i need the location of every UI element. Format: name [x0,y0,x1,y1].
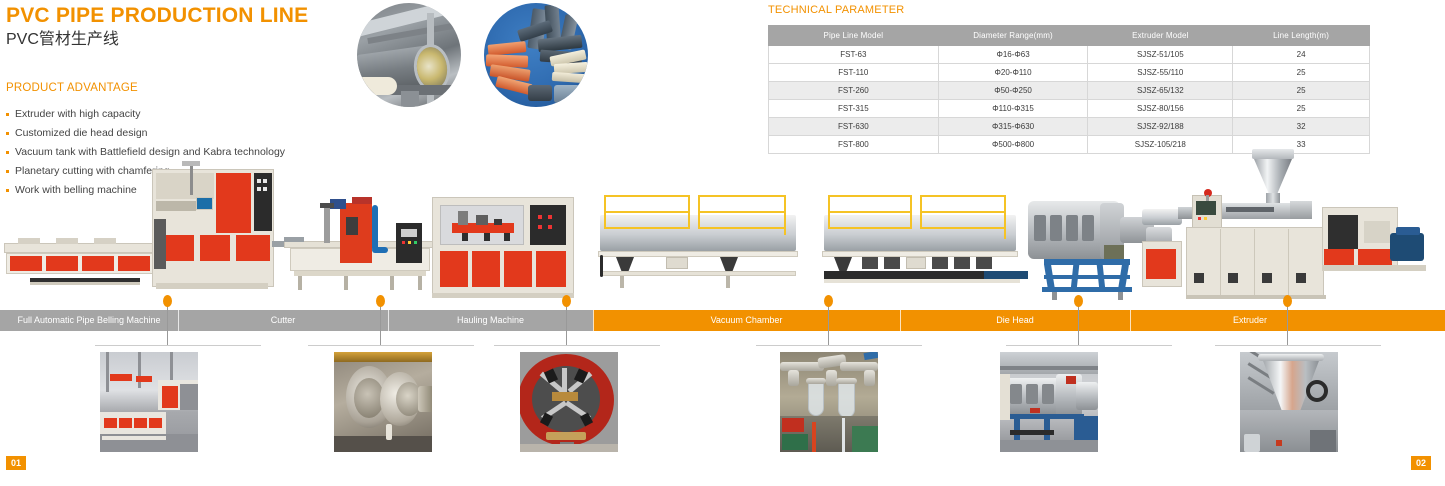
machine-vacuum-tank-a [594,193,802,298]
machine-extruder [1142,145,1442,303]
cell-diameter-range: Φ315-Φ630 [938,118,1088,136]
production-line-illustration [0,145,1445,307]
cell-diameter-range: Φ16-Φ63 [938,46,1088,64]
cell-line-length: 32 [1233,118,1370,136]
technical-parameter-table: Pipe Line Model Diameter Range(mm) Extru… [768,25,1370,154]
page-number-left: 01 [6,456,26,470]
cell-line-length: 25 [1233,64,1370,82]
machine-belling [4,145,274,300]
table-row: FST-63 Φ16-Φ63 SJSZ-51/105 24 [769,46,1370,64]
cell-extruder-model: SJSZ-80/156 [1088,100,1233,118]
thumb-belling-machine[interactable] [100,352,198,452]
stage-label-extruder[interactable]: Extruder [1130,310,1370,331]
cell-line-length: 24 [1233,46,1370,64]
machine-hauling [432,197,574,302]
technical-parameter-section: TECHNICAL PARAMETER Pipe Line Model Diam… [768,4,1370,154]
technical-parameter-heading: TECHNICAL PARAMETER [768,4,1370,16]
table-row: FST-110 Φ20-Φ110 SJSZ-55/110 25 [769,64,1370,82]
thumb-cutter-gear[interactable] [334,352,432,452]
table-row: FST-260 Φ50-Φ250 SJSZ-65/132 25 [769,82,1370,100]
process-stage-bar: Full Automatic Pipe Belling Machine Cutt… [0,310,1445,331]
stage-marker-dot[interactable] [1283,295,1292,307]
pvc-pipes-assortment-photo [484,3,588,107]
cell-pipe-line-model: FST-260 [769,82,939,100]
stage-marker-dot[interactable] [1074,295,1083,307]
bullet-square-icon [6,113,9,116]
stage-marker-dot[interactable] [562,295,571,307]
page-subtitle: PVC管材生产线 [6,29,308,51]
stage-label-die-head[interactable]: Die Head [900,310,1130,331]
stage-marker-dot[interactable] [824,295,833,307]
cell-diameter-range: Φ110-Φ315 [938,100,1088,118]
cell-pipe-line-model: FST-315 [769,100,939,118]
list-item: Extruder with high capacity [6,105,336,124]
title-block: PVC PIPE PRODUCTION LINE PVC管材生产线 [6,4,308,51]
pipe-belling-closeup-photo [357,3,461,107]
cell-diameter-range: Φ50-Φ250 [938,82,1088,100]
cell-line-length: 25 [1233,100,1370,118]
cell-diameter-range: Φ20-Φ110 [938,64,1088,82]
column-header: Extruder Model [1088,26,1233,46]
page-number-right: 02 [1411,456,1431,470]
page-title: PVC PIPE PRODUCTION LINE [6,4,308,28]
machine-cutter [284,197,434,302]
product-advantage-heading: PRODUCT ADVANTAGE [6,82,336,94]
stage-label-cutter[interactable]: Cutter [178,310,388,331]
advantage-label: Extruder with high capacity [15,105,140,124]
table-row: FST-315 Φ110-Φ315 SJSZ-80/156 25 [769,100,1370,118]
cell-pipe-line-model: FST-63 [769,46,939,64]
cell-extruder-model: SJSZ-55/110 [1088,64,1233,82]
thumb-die-head[interactable] [1000,352,1098,452]
table-row: FST-630 Φ315-Φ630 SJSZ-92/188 32 [769,118,1370,136]
cell-extruder-model: SJSZ-92/188 [1088,118,1233,136]
bullet-square-icon [6,132,9,135]
column-header: Diameter Range(mm) [938,26,1088,46]
stage-label-hauling[interactable]: Hauling Machine [388,310,593,331]
machine-vacuum-tank-b [818,193,1022,298]
column-header: Line Length(m) [1233,26,1370,46]
list-item: Customized die head design [6,124,336,143]
table-header-row: Pipe Line Model Diameter Range(mm) Extru… [769,26,1370,46]
cell-pipe-line-model: FST-630 [769,118,939,136]
column-header: Pipe Line Model [769,26,939,46]
cell-pipe-line-model: FST-110 [769,64,939,82]
stage-label-vacuum-chamber[interactable]: Vacuum Chamber [593,310,900,331]
thumb-hauling-head[interactable] [520,352,618,452]
cell-line-length: 25 [1233,82,1370,100]
cell-extruder-model: SJSZ-65/132 [1088,82,1233,100]
stage-marker-dot[interactable] [163,295,172,307]
thumb-extruder-hopper[interactable] [1240,352,1338,452]
cell-extruder-model: SJSZ-51/105 [1088,46,1233,64]
stage-marker-dot[interactable] [376,295,385,307]
advantage-label: Customized die head design [15,124,148,143]
stage-label-belling[interactable]: Full Automatic Pipe Belling Machine [0,310,178,331]
thumb-vacuum-pipes[interactable] [780,352,878,452]
